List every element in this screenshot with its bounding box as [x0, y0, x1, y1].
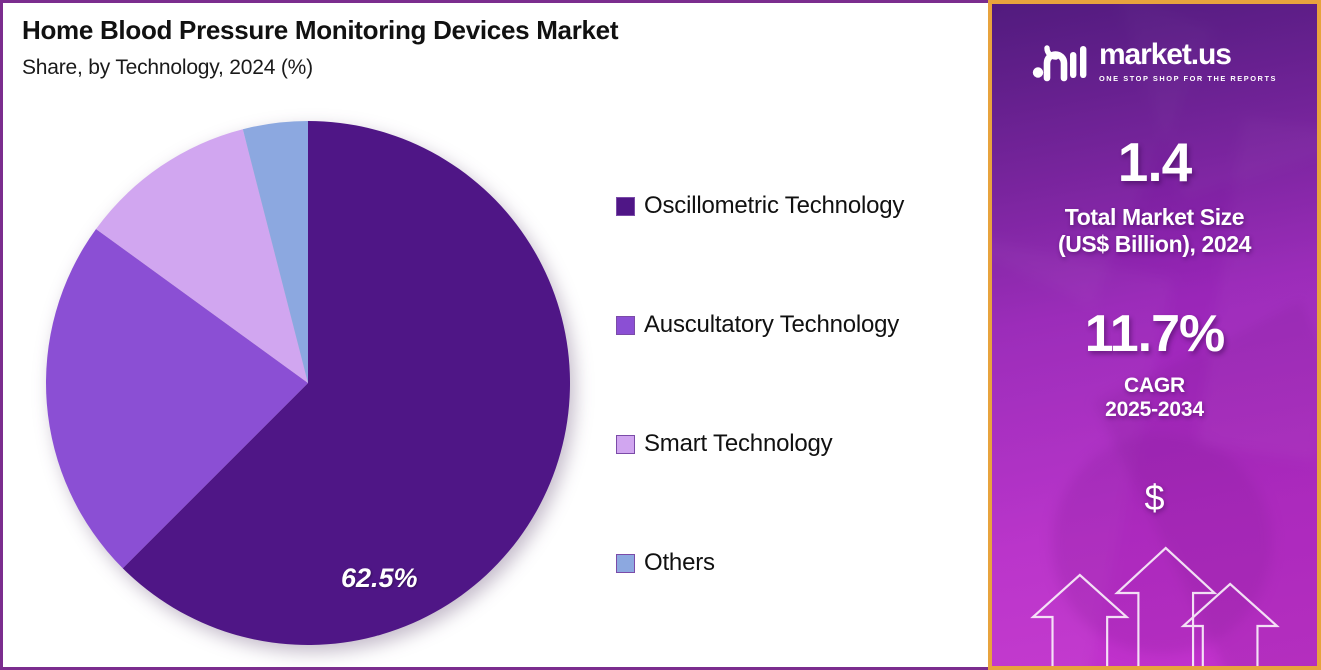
stat-caption-line2: 2025-2034: [1105, 398, 1204, 421]
infographic-root: Home Blood Pressure Monitoring Devices M…: [0, 0, 1321, 670]
stat-value: 11.7%: [992, 304, 1317, 364]
legend-label: Oscillometric Technology: [644, 192, 904, 220]
legend-item-others[interactable]: Others: [616, 543, 976, 583]
brand-tagline: ONE STOP SHOP FOR THE REPORTS: [1099, 74, 1277, 83]
legend-item-smart[interactable]: Smart Technology: [616, 424, 976, 464]
stat-caption-line1: Total Market Size: [1065, 204, 1244, 230]
stat-caption-line2: (US$ Billion), 2024: [1058, 231, 1251, 257]
stat-caption: Total Market Size (US$ Billion), 2024: [992, 204, 1317, 257]
stat-value: 1.4: [992, 130, 1317, 194]
market-us-logo-icon: [1032, 42, 1088, 82]
stats-panel: market.us ONE STOP SHOP FOR THE REPORTS …: [988, 0, 1321, 670]
legend-swatch-icon: [616, 435, 635, 454]
pie-chart-svg: [43, 118, 573, 648]
dollar-sign-icon: $: [992, 477, 1317, 519]
legend-label: Auscultatory Technology: [644, 311, 899, 339]
legend-item-auscultatory[interactable]: Auscultatory Technology: [616, 305, 976, 345]
chart-legend: Oscillometric Technology Auscultatory Te…: [616, 186, 976, 583]
pie-data-label-oscillometric: 62.5%: [341, 563, 418, 594]
legend-label: Others: [644, 549, 715, 577]
stat-cagr: 11.7% CAGR 2025-2034: [992, 304, 1317, 423]
brand-text-block: market.us ONE STOP SHOP FOR THE REPORTS: [1099, 40, 1277, 83]
legend-label: Smart Technology: [644, 430, 832, 458]
legend-swatch-icon: [616, 197, 635, 216]
growth-arrows-icon: [992, 531, 1317, 666]
page-title: Home Blood Pressure Monitoring Devices M…: [22, 15, 618, 46]
legend-swatch-icon: [616, 554, 635, 573]
stat-market-size: 1.4 Total Market Size (US$ Billion), 202…: [992, 130, 1317, 257]
chart-panel: Home Blood Pressure Monitoring Devices M…: [0, 0, 988, 670]
pie-chart: 62.5%: [43, 118, 573, 648]
page-subtitle: Share, by Technology, 2024 (%): [22, 56, 618, 80]
legend-swatch-icon: [616, 316, 635, 335]
brand-name: market.us: [1099, 40, 1231, 70]
brand-logo[interactable]: market.us ONE STOP SHOP FOR THE REPORTS: [992, 40, 1317, 83]
stat-caption-line1: CAGR: [1124, 374, 1185, 397]
chart-header: Home Blood Pressure Monitoring Devices M…: [22, 15, 618, 80]
stat-caption: CAGR 2025-2034: [992, 374, 1317, 423]
legend-item-oscillometric[interactable]: Oscillometric Technology: [616, 186, 976, 226]
